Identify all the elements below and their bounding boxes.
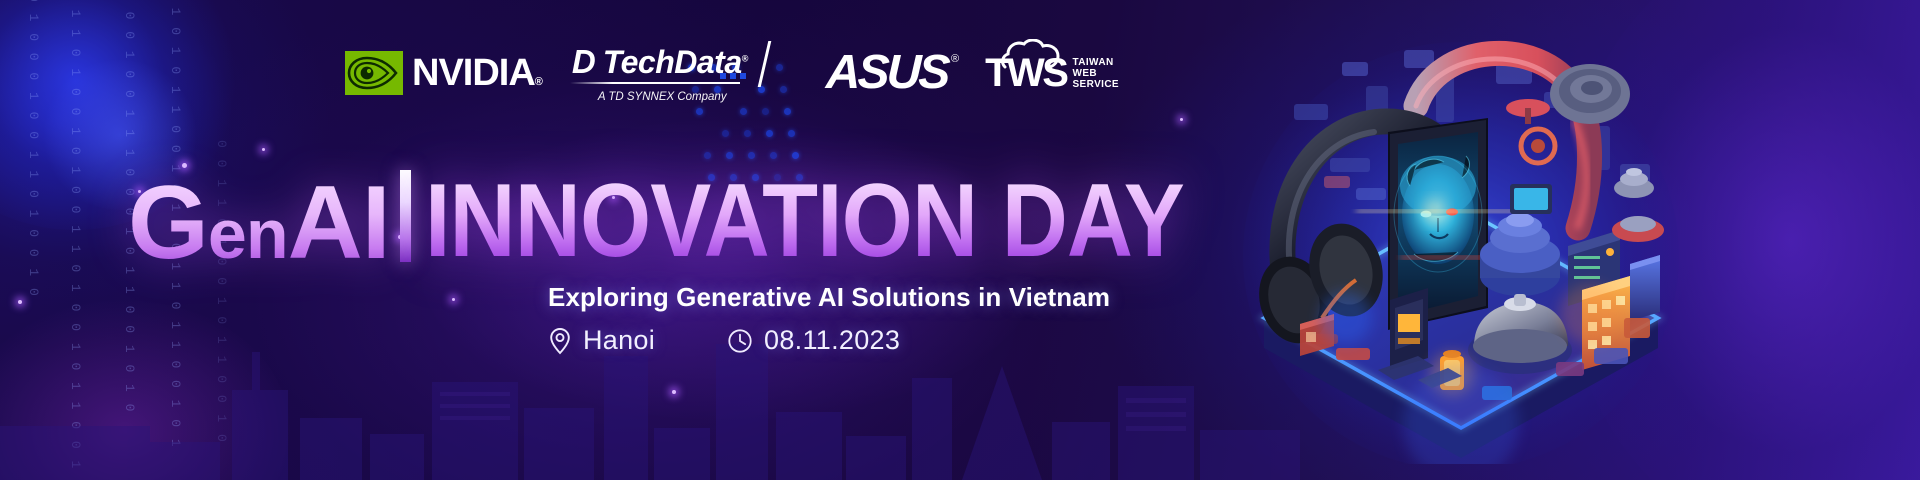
- tws-tagline: TAIWAN WEB SERVICE: [1072, 57, 1119, 93]
- techdata-underline: [570, 82, 740, 84]
- dot-matrix-dot: [696, 108, 703, 115]
- sparkle-star: [18, 300, 22, 304]
- glow-bottom-left-magenta: [0, 300, 290, 480]
- ai-isometric-tech-city-illustration: [1238, 18, 1684, 464]
- event-location-text: Hanoi: [583, 325, 655, 356]
- event-location: Hanoi: [548, 325, 655, 356]
- sparkle-star: [672, 390, 676, 394]
- dot-matrix-dot: [726, 152, 733, 159]
- nvidia-registered-mark: ®: [535, 76, 542, 88]
- dot-matrix-dot: [740, 108, 747, 115]
- techdata-tagline: A TD SYNNEX Company: [598, 91, 727, 103]
- techdata-square-accents: [720, 73, 746, 79]
- dot-matrix-dot: [748, 152, 755, 159]
- dot-matrix-dot: [762, 108, 769, 115]
- dot-matrix-dot: [744, 130, 751, 137]
- binary-stream: 0 1 0 0 0 1 0 0 1 1 0 1 0 0 1 0: [26, 0, 41, 144]
- event-date: 08.11.2023: [727, 325, 900, 356]
- clock-icon: [727, 328, 753, 354]
- nvidia-logo[interactable]: NVIDIA®: [345, 51, 542, 95]
- title-divider-bar: [400, 170, 411, 262]
- event-date-text: 08.11.2023: [764, 325, 900, 356]
- asus-logo[interactable]: ASUS ®: [826, 49, 947, 97]
- dot-matrix-dot: [766, 130, 773, 137]
- partner-logo-row: NVIDIA® D TechData® A TD SYNNEX Company …: [345, 42, 1119, 104]
- nvidia-text: NVIDIA: [412, 52, 535, 94]
- page-title: G en AI INNOVATION DAY: [128, 160, 1287, 268]
- techdata-logo[interactable]: D TechData® A TD SYNNEX Company: [568, 43, 764, 103]
- genai-letter-g: G: [128, 179, 208, 268]
- tws-logo[interactable]: TWS TAIWAN WEB SERVICE: [985, 53, 1119, 93]
- genai-innovation-day-banner: 0 1 0 0 0 1 0 0 1 1 0 1 0 0 1 0 0 1 1 0 …: [0, 0, 1920, 480]
- dot-matrix-dot: [770, 152, 777, 159]
- sparkle-star: [452, 298, 455, 301]
- dot-matrix-dot: [784, 108, 791, 115]
- genai-letters-en: en: [208, 204, 288, 264]
- asus-wordmark: ASUS: [825, 49, 948, 97]
- techdata-wordmark: D TechData®: [568, 43, 764, 83]
- genai-letters-ai: AI: [288, 179, 390, 268]
- nvidia-eye-icon: [345, 51, 403, 95]
- sparkle-star: [262, 148, 265, 151]
- genai-wordmark: G en AI: [128, 179, 390, 268]
- techdata-monogram: D: [572, 45, 596, 78]
- nvidia-wordmark: NVIDIA®: [412, 54, 542, 92]
- event-subtitle: Exploring Generative AI Solutions in Vie…: [548, 282, 1110, 313]
- techdata-registered-mark: ®: [742, 53, 748, 63]
- dot-matrix-dot: [792, 152, 799, 159]
- sparkle-star: [1180, 118, 1183, 121]
- dot-matrix-dot: [788, 130, 795, 137]
- dot-matrix-dot: [704, 152, 711, 159]
- asus-registered-mark: ®: [951, 53, 959, 65]
- cloud-icon: [999, 39, 1073, 69]
- binary-stream: 0 1 1 0 1 0 0 1 0 1 0 0 1 1 0 1 0 0 1 0 …: [68, 0, 83, 250]
- event-meta-row: Hanoi 08.11.2023: [548, 325, 900, 356]
- innovation-day-title: INNOVATION DAY: [425, 177, 1184, 266]
- location-pin-icon: [548, 327, 572, 355]
- techdata-slash-accent: [757, 41, 771, 87]
- tws-tagline-line3: SERVICE: [1072, 79, 1119, 90]
- tws-tagline-line1: TAIWAN: [1072, 57, 1113, 68]
- dot-matrix-dot: [722, 130, 729, 137]
- tws-tagline-line2: WEB: [1072, 68, 1097, 79]
